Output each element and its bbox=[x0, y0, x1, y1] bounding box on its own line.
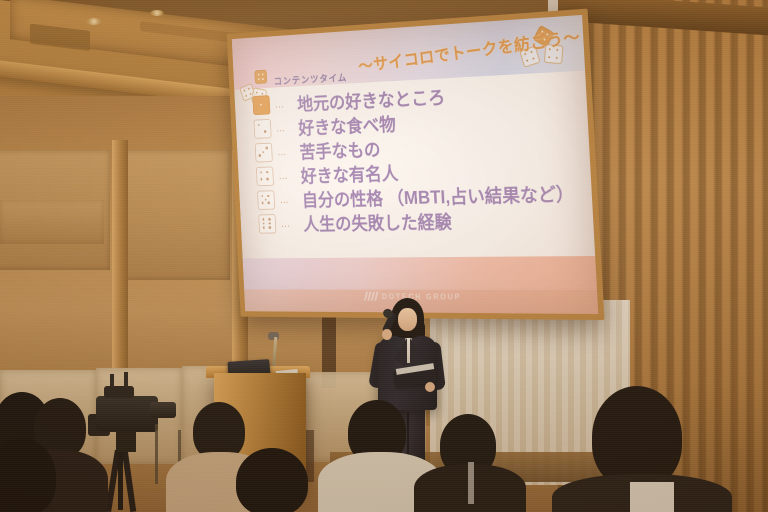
projection-screen: コンテンツタイム 〜サイコロでトークを紡ごう〜 … 地元の好きなところ bbox=[232, 15, 599, 314]
slide-header: コンテンツタイム bbox=[254, 65, 347, 89]
speaker-hand-holding-mic bbox=[382, 329, 392, 340]
audience-head bbox=[236, 448, 308, 512]
video-camera-body bbox=[96, 396, 158, 432]
dice-face-6-icon bbox=[258, 214, 276, 233]
dice-face-1-icon bbox=[252, 95, 270, 115]
dice-face-3-icon bbox=[255, 143, 273, 163]
list-item-label: 好きな食べ物 bbox=[298, 110, 397, 139]
list-item-label: 自分の性格 bbox=[301, 185, 383, 212]
audience-head bbox=[592, 386, 682, 488]
ceiling-spotlight bbox=[86, 18, 102, 25]
list-separator: … bbox=[276, 122, 295, 134]
wall-panel bbox=[120, 150, 230, 280]
slide-header-label: コンテンツタイム bbox=[273, 70, 347, 88]
camera-top-handle bbox=[104, 386, 134, 398]
dice-face-2-icon bbox=[254, 119, 272, 139]
slide-content: コンテンツタイム 〜サイコロでトークを紡ごう〜 … 地元の好きなところ bbox=[232, 15, 599, 314]
list-separator: … bbox=[275, 98, 294, 110]
wall-pilaster bbox=[112, 140, 128, 370]
camera-lens bbox=[150, 402, 176, 418]
slide-topic-list: … 地元の好きなところ … 好きな食べ物 bbox=[252, 77, 584, 236]
list-item-note: （MBTI,占い結果など） bbox=[387, 180, 575, 210]
list-item-label: 好きな有名人 bbox=[300, 160, 399, 188]
list-separator: … bbox=[281, 218, 300, 229]
presentation-photo: コンテンツタイム 〜サイコロでトークを紡ごう〜 … 地元の好きなところ bbox=[0, 0, 768, 512]
footer-logo-text: DOTECH GROUP bbox=[382, 292, 462, 301]
dice-face-4-icon bbox=[256, 166, 274, 186]
logo-mark-icon bbox=[365, 291, 378, 300]
tripod-leg bbox=[118, 452, 123, 510]
header-dice-icon bbox=[254, 70, 267, 89]
speaker-face bbox=[398, 308, 417, 331]
audience-lanyard bbox=[468, 462, 474, 504]
tripod-head bbox=[116, 430, 136, 452]
camera-antenna bbox=[124, 372, 128, 388]
audience-collar bbox=[630, 482, 674, 512]
wall-panel bbox=[0, 200, 104, 244]
list-separator: … bbox=[278, 170, 297, 182]
list-item-label: 人生の失敗した経験 bbox=[303, 208, 453, 236]
ceiling-spotlight bbox=[150, 10, 164, 16]
list-separator: … bbox=[279, 194, 298, 205]
dice-face-5-icon bbox=[257, 190, 275, 210]
projection-screen-frame: コンテンツタイム 〜サイコロでトークを紡ごう〜 … 地元の好きなところ bbox=[227, 9, 605, 321]
slide-header-subtitle: 〜サイコロでトークを紡ごう〜 bbox=[357, 23, 582, 77]
camera-antenna bbox=[110, 374, 114, 388]
list-separator: … bbox=[277, 146, 296, 158]
floor-mic-stand bbox=[155, 424, 158, 484]
speaker-hand-holding-folder bbox=[425, 382, 435, 392]
list-item: … 人生の失敗した経験 bbox=[258, 206, 584, 235]
